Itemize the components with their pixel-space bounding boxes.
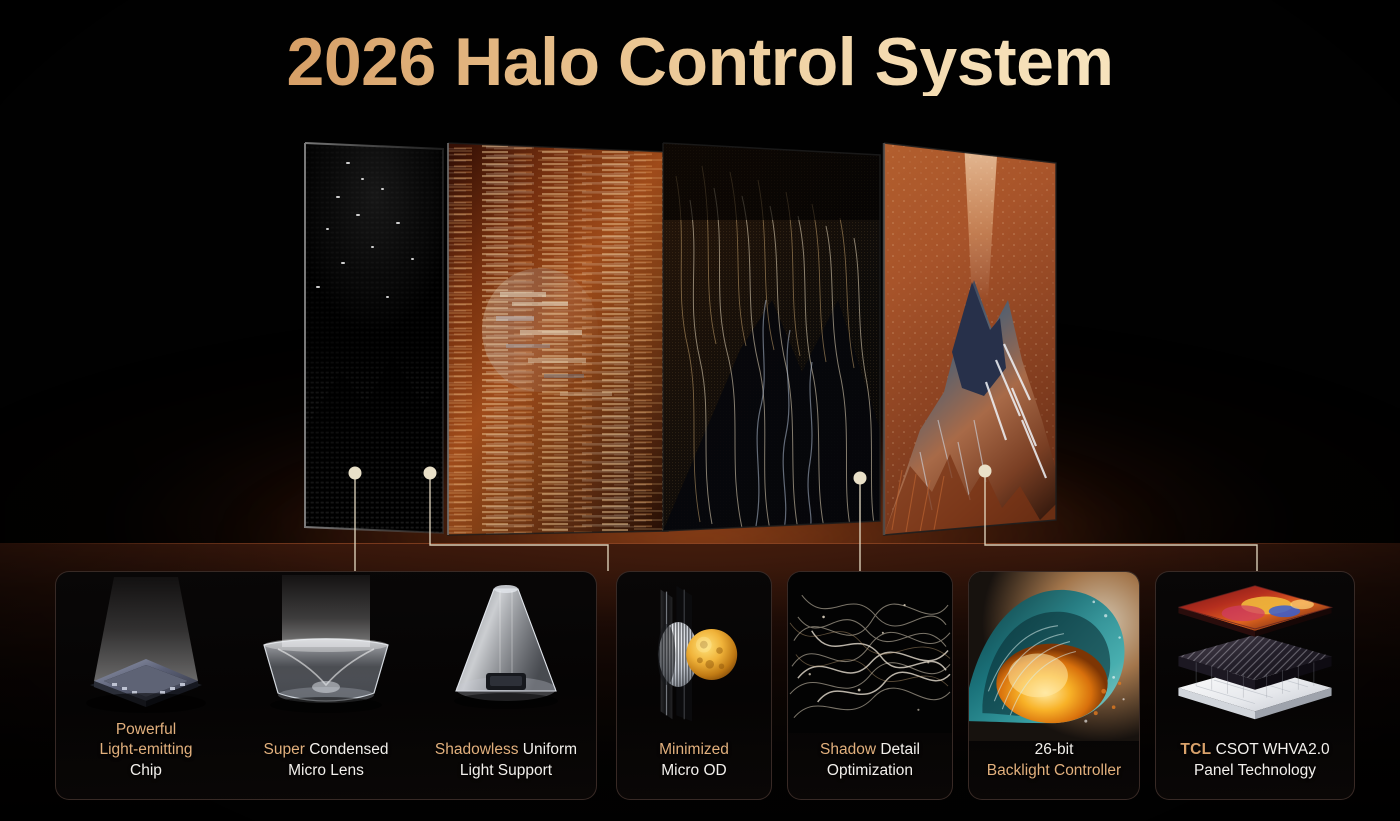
feature-shadow-detail-optimization[interactable]: Shadow Detail Optimization <box>788 572 952 799</box>
exploded-panel-layers-icon <box>1156 572 1354 733</box>
feature-label: 26-bit Backlight Controller <box>981 740 1127 781</box>
feature-shadowless-uniform-light-support[interactable]: Shadowless Uniform Light Support <box>416 572 596 799</box>
feature-powerful-light-emitting-chip[interactable]: Powerful Light-emitting Chip <box>56 572 236 799</box>
feature-card-row: Powerful Light-emitting Chip <box>0 0 1400 821</box>
card-backlight-controller[interactable]: 26-bit Backlight Controller <box>968 571 1140 800</box>
feature-label: Shadowless Uniform Light Support <box>429 740 583 781</box>
feature-label: Shadow Detail Optimization <box>814 740 926 781</box>
panel-cross-section-icon <box>617 572 771 733</box>
feature-label: Minimized Micro OD <box>653 740 735 781</box>
feature-label: TCL CSOT WHVA2.0 Panel Technology <box>1174 740 1335 781</box>
micro-lens-icon <box>236 572 416 733</box>
card-shadow-detail-optimization[interactable]: Shadow Detail Optimization <box>787 571 953 800</box>
light-support-cone-icon <box>416 572 596 733</box>
infographic-stage: Powerful Light-emitting Chip <box>0 0 1400 821</box>
feature-minimized-micro-od[interactable]: Minimized Micro OD <box>617 572 771 799</box>
card-light-source[interactable]: Powerful Light-emitting Chip <box>55 571 597 800</box>
feature-super-condensed-micro-lens[interactable]: Super Condensed Micro Lens <box>236 572 416 799</box>
feature-tcl-csot-whva2-panel-technology[interactable]: TCL CSOT WHVA2.0 Panel Technology <box>1156 572 1354 799</box>
led-chip-icon <box>56 572 236 733</box>
card-minimized-micro-od[interactable]: Minimized Micro OD <box>616 571 772 800</box>
feature-label: Powerful Light-emitting Chip <box>93 720 198 781</box>
feature-26-bit-backlight-controller[interactable]: 26-bit Backlight Controller <box>969 572 1139 799</box>
card-panel-technology[interactable]: TCL CSOT WHVA2.0 Panel Technology <box>1155 571 1355 800</box>
page-title: 2026 Halo Control System <box>0 28 1400 96</box>
light-filament-icon <box>788 572 952 733</box>
feature-label: Super Condensed Micro Lens <box>258 740 395 781</box>
wave-burst-icon <box>969 572 1139 741</box>
